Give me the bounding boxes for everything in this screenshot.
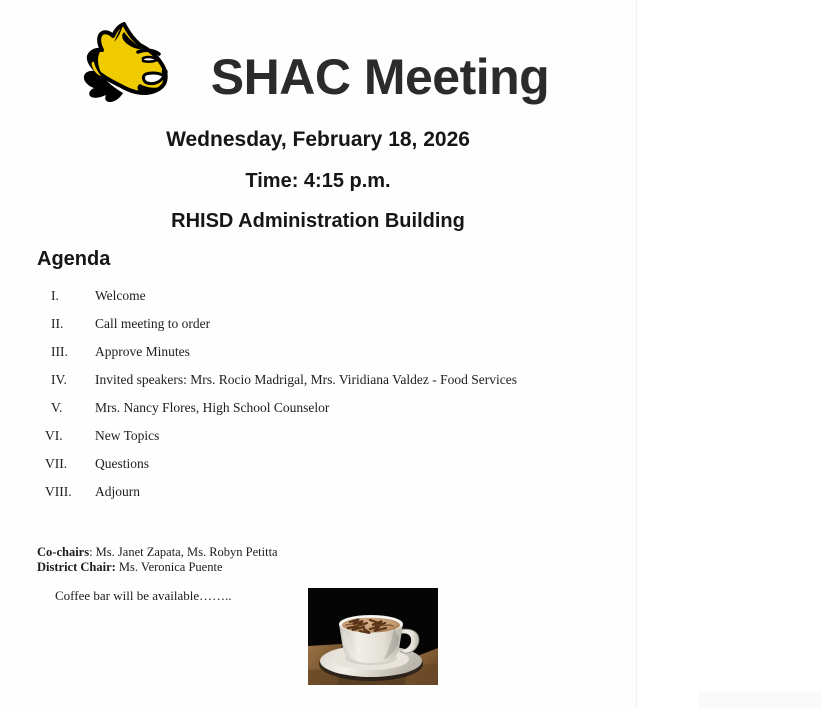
- cochairs-line: Co-chairs: Ms. Janet Zapata, Ms. Robyn P…: [37, 545, 278, 560]
- coffee-cup-photo: [308, 588, 438, 685]
- list-item: IV. Invited speakers: Mrs. Rocio Madriga…: [45, 372, 605, 400]
- meeting-time: Time: 4:15 p.m.: [18, 170, 618, 193]
- agenda-numeral: VI.: [45, 428, 95, 444]
- meeting-location: RHISD Administration Building: [18, 210, 618, 233]
- agenda-item-label: Adjourn: [95, 484, 605, 500]
- agenda-item-label: Approve Minutes: [95, 344, 605, 360]
- list-item: III. Approve Minutes: [45, 344, 605, 372]
- coffee-bar-note: Coffee bar will be available……..: [55, 588, 232, 604]
- agenda-item-label: Welcome: [95, 288, 605, 304]
- list-item: I. Welcome: [45, 288, 605, 316]
- list-item: VII. Questions: [45, 456, 605, 484]
- agenda-item-label: Mrs. Nancy Flores, High School Counselor: [95, 400, 605, 416]
- agenda-numeral: II.: [45, 316, 95, 332]
- district-chair-label: District Chair:: [37, 560, 116, 574]
- page-title: SHAC Meeting: [140, 48, 620, 106]
- page-gutter: [637, 0, 822, 708]
- agenda-numeral: IV.: [45, 372, 95, 388]
- chairs-block: Co-chairs: Ms. Janet Zapata, Ms. Robyn P…: [37, 545, 278, 575]
- agenda-item-label: Call meeting to order: [95, 316, 605, 332]
- agenda-list: I. Welcome II. Call meeting to order III…: [45, 288, 605, 512]
- page-bottom-band: [698, 692, 822, 708]
- agenda-item-label: Invited speakers: Mrs. Rocio Madrigal, M…: [95, 372, 605, 388]
- document-masthead: SHAC Meeting Wednesday, February 18, 202…: [0, 0, 636, 240]
- list-item: VIII. Adjourn: [45, 484, 605, 512]
- list-item: VI. New Topics: [45, 428, 605, 456]
- cochairs-value: : Ms. Janet Zapata, Ms. Robyn Petitta: [89, 545, 278, 559]
- district-chair-value: Ms. Veronica Puente: [116, 560, 223, 574]
- agenda-numeral: V.: [45, 400, 95, 416]
- agenda-numeral: VII.: [45, 456, 95, 472]
- agenda-numeral: I.: [45, 288, 95, 304]
- list-item: II. Call meeting to order: [45, 316, 605, 344]
- cochairs-label: Co-chairs: [37, 545, 89, 559]
- agenda-numeral: VIII.: [45, 484, 95, 500]
- document-page: SHAC Meeting Wednesday, February 18, 202…: [0, 0, 822, 708]
- agenda-numeral: III.: [45, 344, 95, 360]
- agenda-item-label: Questions: [95, 456, 605, 472]
- agenda-heading: Agenda: [37, 248, 110, 271]
- meeting-date: Wednesday, February 18, 2026: [18, 128, 618, 152]
- list-item: V. Mrs. Nancy Flores, High School Counse…: [45, 400, 605, 428]
- agenda-item-label: New Topics: [95, 428, 605, 444]
- district-chair-line: District Chair: Ms. Veronica Puente: [37, 560, 278, 575]
